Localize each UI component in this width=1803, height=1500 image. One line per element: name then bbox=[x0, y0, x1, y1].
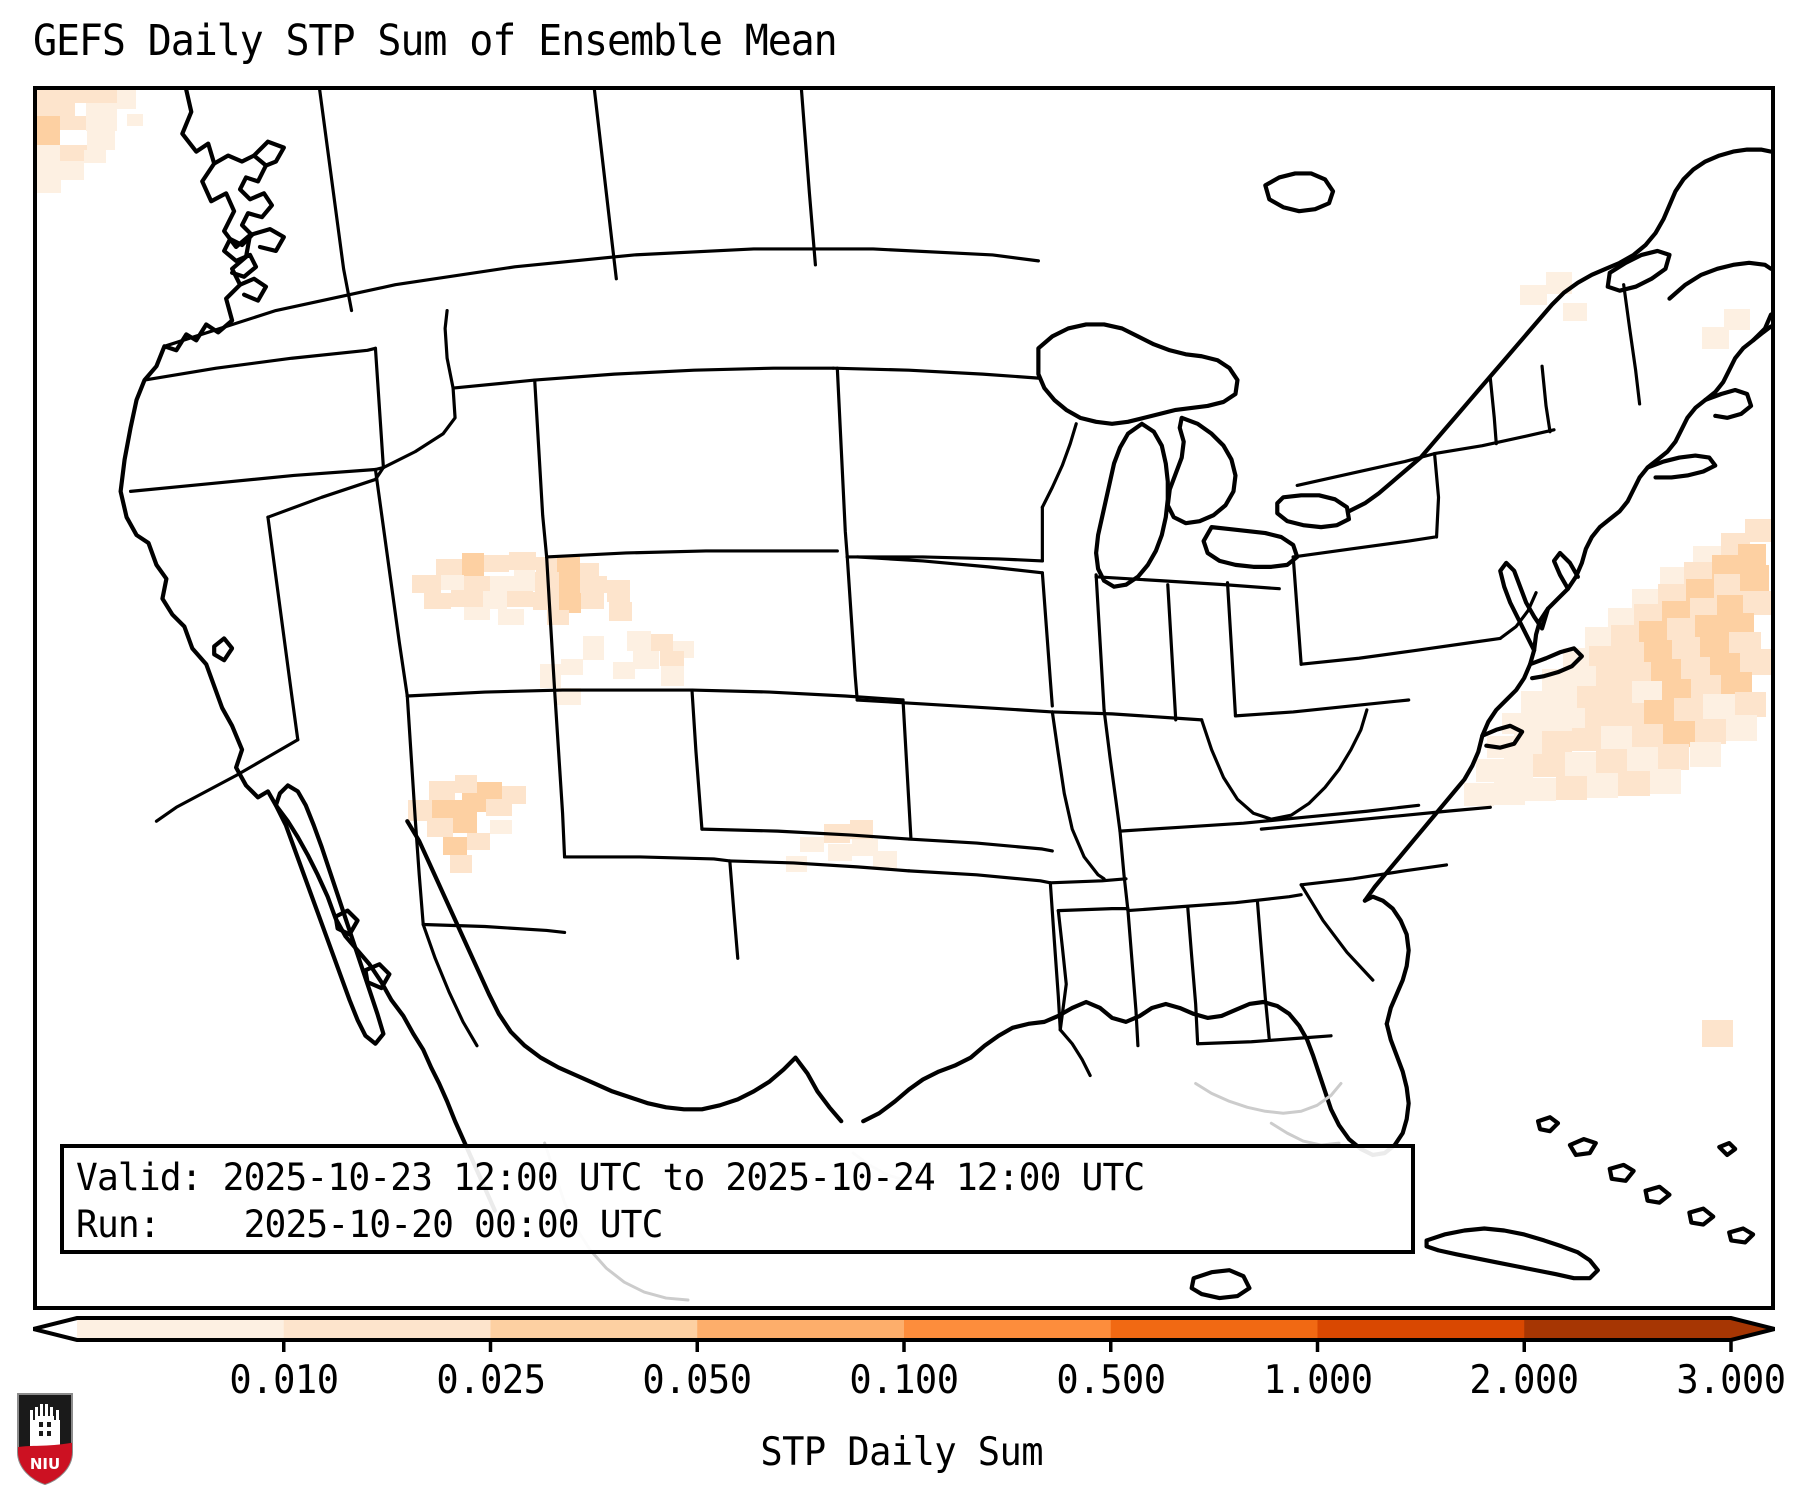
niu-logo-text: NIU bbox=[30, 1455, 60, 1473]
colorbar-segment-group bbox=[33, 1318, 1775, 1340]
colorbar-segment bbox=[77, 1318, 284, 1340]
valid-time-line: Valid: 2025-10-23 12:00 UTC to 2025-10-2… bbox=[76, 1154, 1384, 1201]
geography-layer bbox=[37, 90, 1771, 1306]
colorbar-tick-label: 0.500 bbox=[1056, 1358, 1165, 1403]
colorbar-tick-label: 0.025 bbox=[436, 1358, 545, 1403]
colorbar-segment bbox=[697, 1318, 904, 1340]
colorbar-segment bbox=[284, 1318, 491, 1340]
colorbar-tick-label: 1.000 bbox=[1263, 1358, 1372, 1403]
colorbar-tick-label: 3.000 bbox=[1676, 1358, 1785, 1403]
run-time-line: Run: 2025-10-20 00:00 UTC bbox=[76, 1201, 1384, 1248]
colorbar-swatches bbox=[33, 1316, 1775, 1356]
colorbar-tick-label-group: 0.0100.0250.0500.1000.5001.0002.0003.000 bbox=[33, 1358, 1775, 1408]
valid-run-info-box: Valid: 2025-10-23 12:00 UTC to 2025-10-2… bbox=[60, 1144, 1415, 1254]
colorbar-tick-label: 0.010 bbox=[229, 1358, 338, 1403]
colorbar-axis-label: STP Daily Sum bbox=[0, 1430, 1803, 1475]
colorbar-tick-label: 0.050 bbox=[643, 1358, 752, 1403]
map-panel[interactable] bbox=[33, 86, 1775, 1310]
colorbar-segment bbox=[1524, 1318, 1731, 1340]
colorbar-segment bbox=[904, 1318, 1111, 1340]
state-border-paths bbox=[131, 90, 1640, 1076]
coastline-paths bbox=[121, 90, 1771, 1298]
colorbar-axis-label-text: STP Daily Sum bbox=[760, 1430, 1043, 1475]
map-canvas bbox=[37, 90, 1771, 1306]
colorbar-segment bbox=[1318, 1318, 1525, 1340]
colorbar-tick-label: 0.100 bbox=[849, 1358, 958, 1403]
niu-logo: NIU bbox=[14, 1390, 76, 1486]
page-title: GEFS Daily STP Sum of Ensemble Mean bbox=[33, 16, 837, 66]
colorbar-segment bbox=[491, 1318, 698, 1340]
colorbar-tick-label: 2.000 bbox=[1470, 1358, 1579, 1403]
colorbar[interactable]: 0.0100.0250.0500.1000.5001.0002.0003.000 bbox=[33, 1316, 1775, 1356]
colorbar-segment bbox=[1111, 1318, 1318, 1340]
